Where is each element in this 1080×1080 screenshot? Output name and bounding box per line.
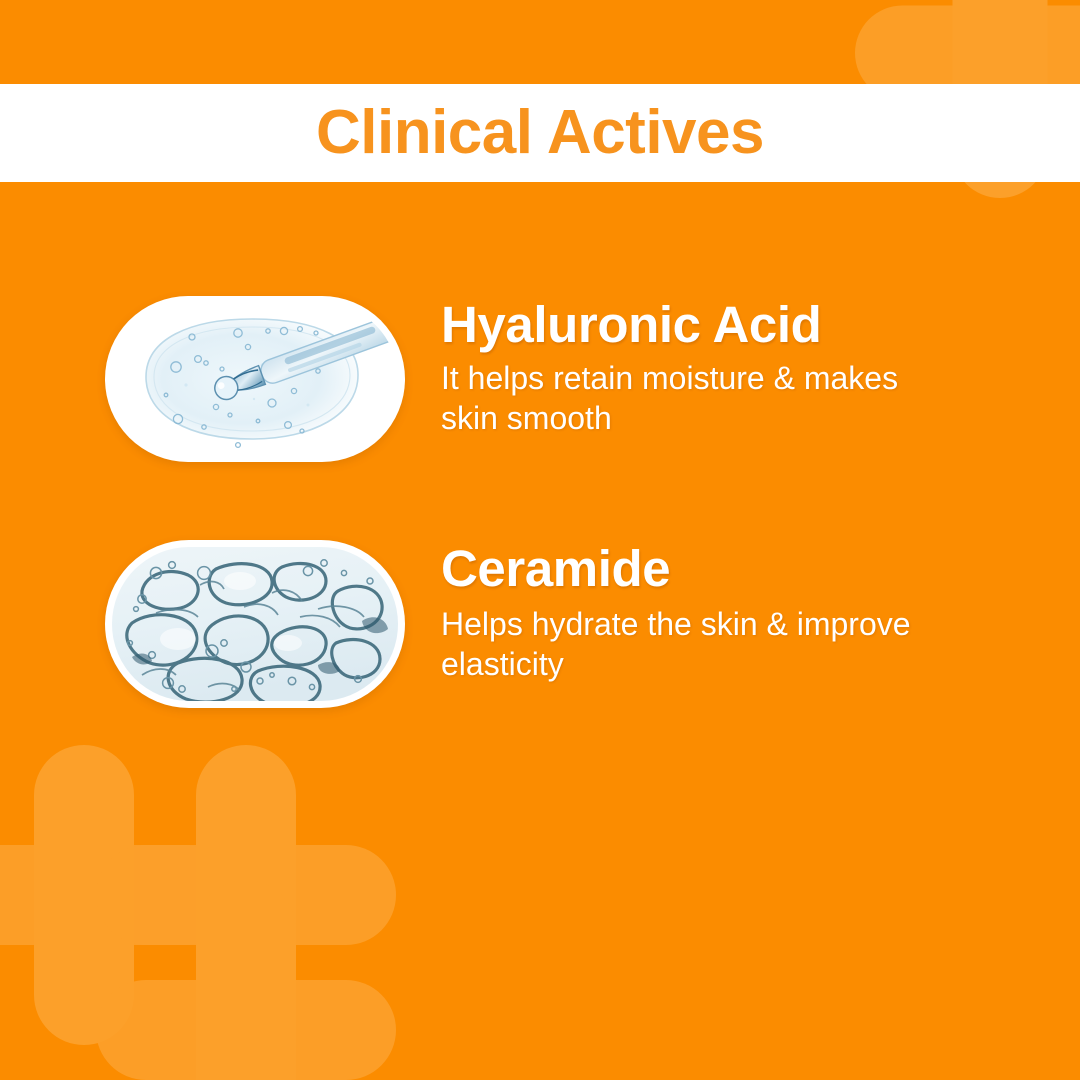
cross-decoration-bottom-left-upper: [96, 745, 396, 1045]
feature-description: Helps hydrate the skin & improve elastic…: [441, 604, 961, 685]
cross-bar-horizontal: [96, 980, 396, 1080]
cross-bar-horizontal: [0, 845, 234, 945]
clear-gel-bubbles-macro-photo: [112, 547, 398, 701]
cross-bar-vertical: [196, 745, 296, 1045]
feature-description: It helps retain moisture & makes skin sm…: [441, 358, 961, 439]
feature-title: Hyaluronic Acid: [441, 298, 961, 352]
feature-list: Hyaluronic Acid It helps retain moisture…: [0, 296, 1080, 708]
feature-text-block: Ceramide Helps hydrate the skin & improv…: [405, 540, 961, 685]
cross-bar-vertical: [34, 745, 134, 1045]
feature-image-card: [105, 296, 405, 462]
cross-bar-horizontal: [96, 845, 396, 945]
dropper-with-clear-gel-photo: [112, 303, 398, 455]
feature-text-block: Hyaluronic Acid It helps retain moisture…: [405, 296, 961, 439]
feature-item-hyaluronic-acid: Hyaluronic Acid It helps retain moisture…: [0, 296, 1080, 462]
page-title: Clinical Actives: [316, 102, 764, 164]
feature-image-card: [105, 540, 405, 708]
cross-bar-vertical: [196, 880, 296, 1080]
clinical-actives-poster: Clinical Actives: [0, 0, 1080, 1080]
feature-item-ceramide: Ceramide Helps hydrate the skin & improv…: [0, 540, 1080, 708]
cross-decoration-bottom-left-lower: [96, 880, 396, 1080]
header-banner: Clinical Actives: [0, 84, 1080, 182]
cross-decoration-bottom-left-outer: [0, 745, 234, 1045]
feature-title: Ceramide: [441, 542, 961, 596]
